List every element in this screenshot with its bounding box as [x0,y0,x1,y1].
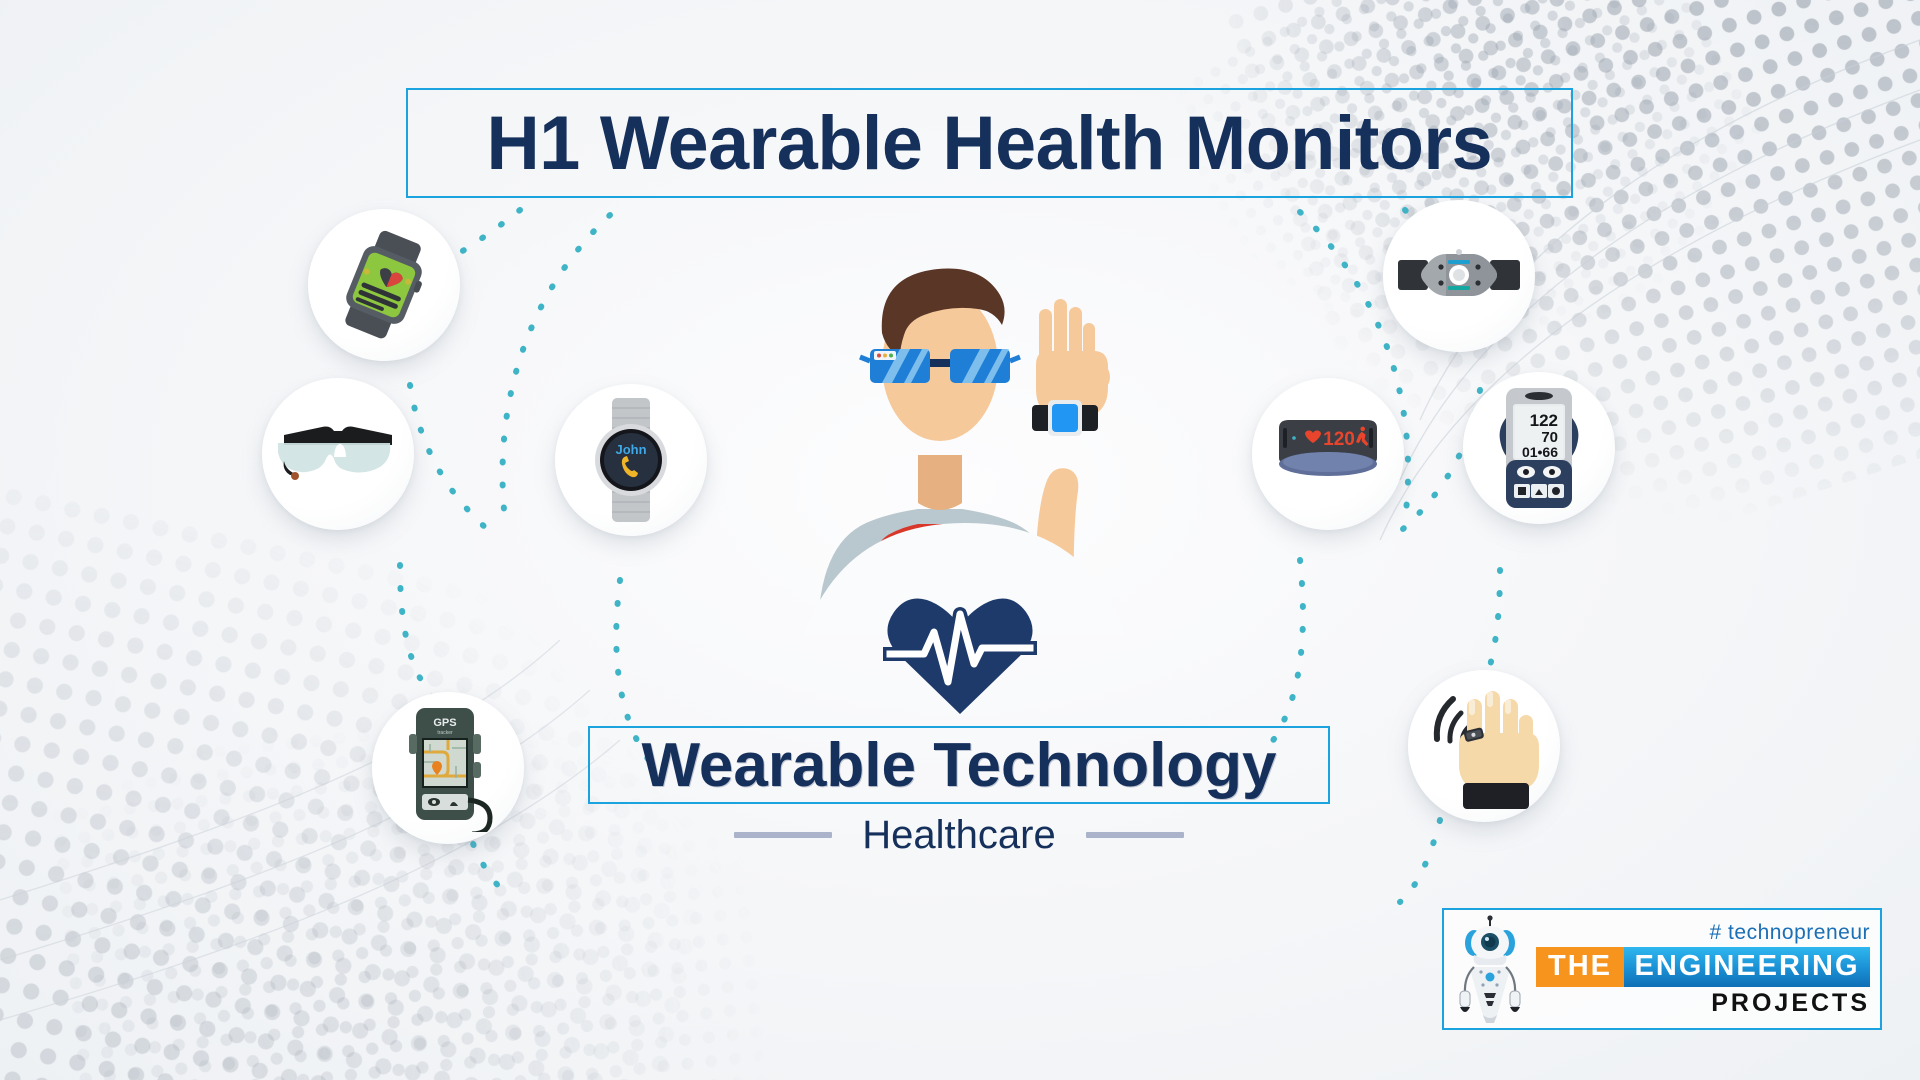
logo-projects: PROJECTS [1711,989,1870,1018]
subtitle-rule-right [1086,832,1184,838]
center-figure-illustration [800,215,1130,635]
node-smartwatch-round[interactable]: John [555,384,707,536]
logo-the: THE [1536,947,1624,987]
smartwatch-screen-name: John [615,442,646,457]
node-gps-tracker[interactable]: GPS tracker [372,692,524,844]
page-title: H1 Wearable Health Monitors [487,100,1493,187]
smartwatch-round-icon: John [579,396,683,524]
node-blood-pressure-monitor[interactable]: 122 70 01•66 [1463,372,1615,524]
node-smart-glasses[interactable] [262,378,414,530]
wordmark-subtitle-row: Healthcare [588,810,1330,860]
wordmark-title: Wearable Technology [641,730,1276,801]
subtitle-rule-left [734,832,832,838]
page-title-box: H1 Wearable Health Monitors [406,88,1573,198]
logo-engineering: ENGINEERING [1624,947,1870,987]
logo-middle-row: THE ENGINEERING [1536,947,1870,987]
brand-logo[interactable]: # technopreneur THE ENGINEERING PROJECTS [1442,908,1882,1030]
node-chest-strap[interactable] [1383,200,1535,352]
wordmark-subtitle: Healthcare [862,813,1055,858]
node-smartwatch-green-screen[interactable] [308,209,460,361]
gps-device-label: GPS [433,717,456,729]
smart-ring-hand-icon [1423,681,1545,811]
robot-mascot-icon [1450,915,1530,1023]
node-fitness-band[interactable]: 120 [1252,378,1404,530]
node-smart-ring-hand[interactable] [1408,670,1560,822]
fitness-band-icon: 120 [1265,412,1391,496]
gps-device-icon: GPS tracker [394,704,502,832]
figure-smartwatch [1032,400,1098,436]
smartwatch-square-icon [325,226,443,344]
chest-strap-icon [1396,228,1522,324]
smart-glasses-icon [278,419,398,489]
wordmark-box: Wearable Technology [588,726,1330,804]
gps-device-sublabel: tracker [437,730,453,736]
fitness-band-value: 120 [1323,429,1355,450]
logo-hashtag: # technopreneur [1710,921,1870,945]
heart-pulse-logo-icon [880,590,1040,720]
bp-pulse: 01•66 [1522,444,1558,460]
brand-logo-textblock: # technopreneur THE ENGINEERING PROJECTS [1536,921,1870,1018]
figure-neck [918,455,962,510]
bp-monitor-icon: 122 70 01•66 [1492,382,1586,514]
bp-systolic: 122 [1530,411,1558,430]
